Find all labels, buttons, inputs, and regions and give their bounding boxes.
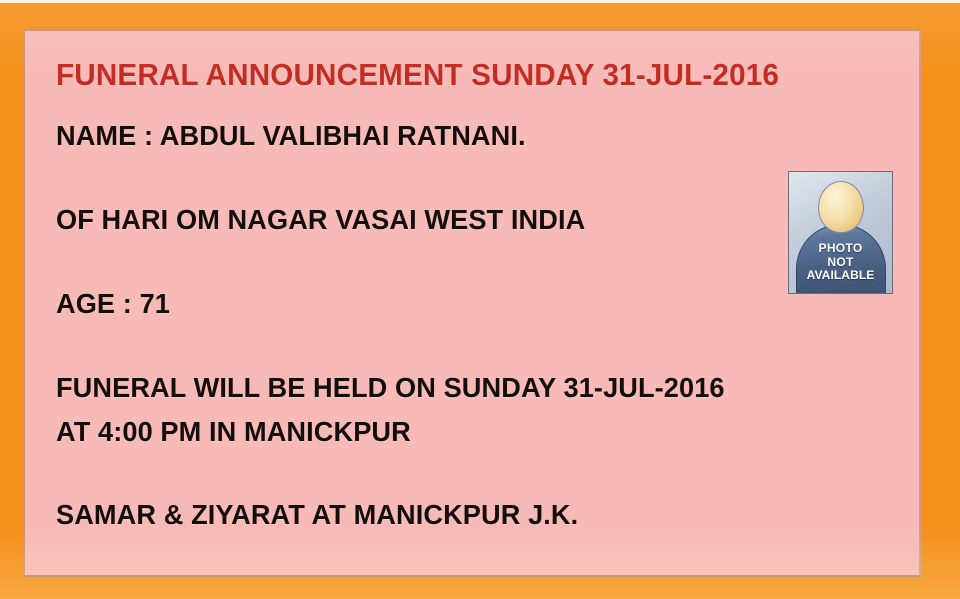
funeral-details-paragraph: FUNERAL WILL BE HELD ON SUNDAY 31-JUL-20… — [56, 366, 816, 454]
name-paragraph: NAME : ABDUL VALIBHAI RATNANI. — [56, 114, 816, 158]
address-line: OF HARI OM NAGAR VASAI WEST INDIA — [56, 198, 793, 242]
age-paragraph: AGE : 71 — [56, 282, 816, 326]
photo-not-available-icon: PHOTO NOT AVAILABLE — [788, 171, 893, 294]
address-paragraph: OF HARI OM NAGAR VASAI WEST INDIA — [56, 198, 816, 242]
avatar-head-shape — [818, 181, 864, 233]
avatar-caption-line-3: AVAILABLE — [789, 269, 892, 283]
announcement-headline: FUNERAL ANNOUNCEMENT SUNDAY 31-JUL-2016 — [56, 57, 779, 93]
samar-ziyarat-line: SAMAR & ZIYARAT AT MANICKPUR J.K. — [56, 493, 793, 537]
funeral-line-2: AT 4:00 PM IN MANICKPUR — [56, 410, 793, 454]
samar-paragraph: SAMAR & ZIYARAT AT MANICKPUR J.K. — [56, 493, 816, 537]
announcement-body: NAME : ABDUL VALIBHAI RATNANI. OF HARI O… — [56, 114, 816, 537]
funeral-announcement-poster: FUNERAL ANNOUNCEMENT SUNDAY 31-JUL-2016 … — [0, 0, 960, 599]
name-line: NAME : ABDUL VALIBHAI RATNANI. — [56, 114, 793, 158]
age-line: AGE : 71 — [56, 282, 793, 326]
avatar-caption-line-2: NOT — [789, 256, 892, 270]
avatar-caption: PHOTO NOT AVAILABLE — [789, 242, 892, 283]
funeral-line-1: FUNERAL WILL BE HELD ON SUNDAY 31-JUL-20… — [56, 366, 793, 410]
avatar-caption-line-1: PHOTO — [789, 242, 892, 256]
announcement-card: FUNERAL ANNOUNCEMENT SUNDAY 31-JUL-2016 … — [23, 29, 921, 577]
